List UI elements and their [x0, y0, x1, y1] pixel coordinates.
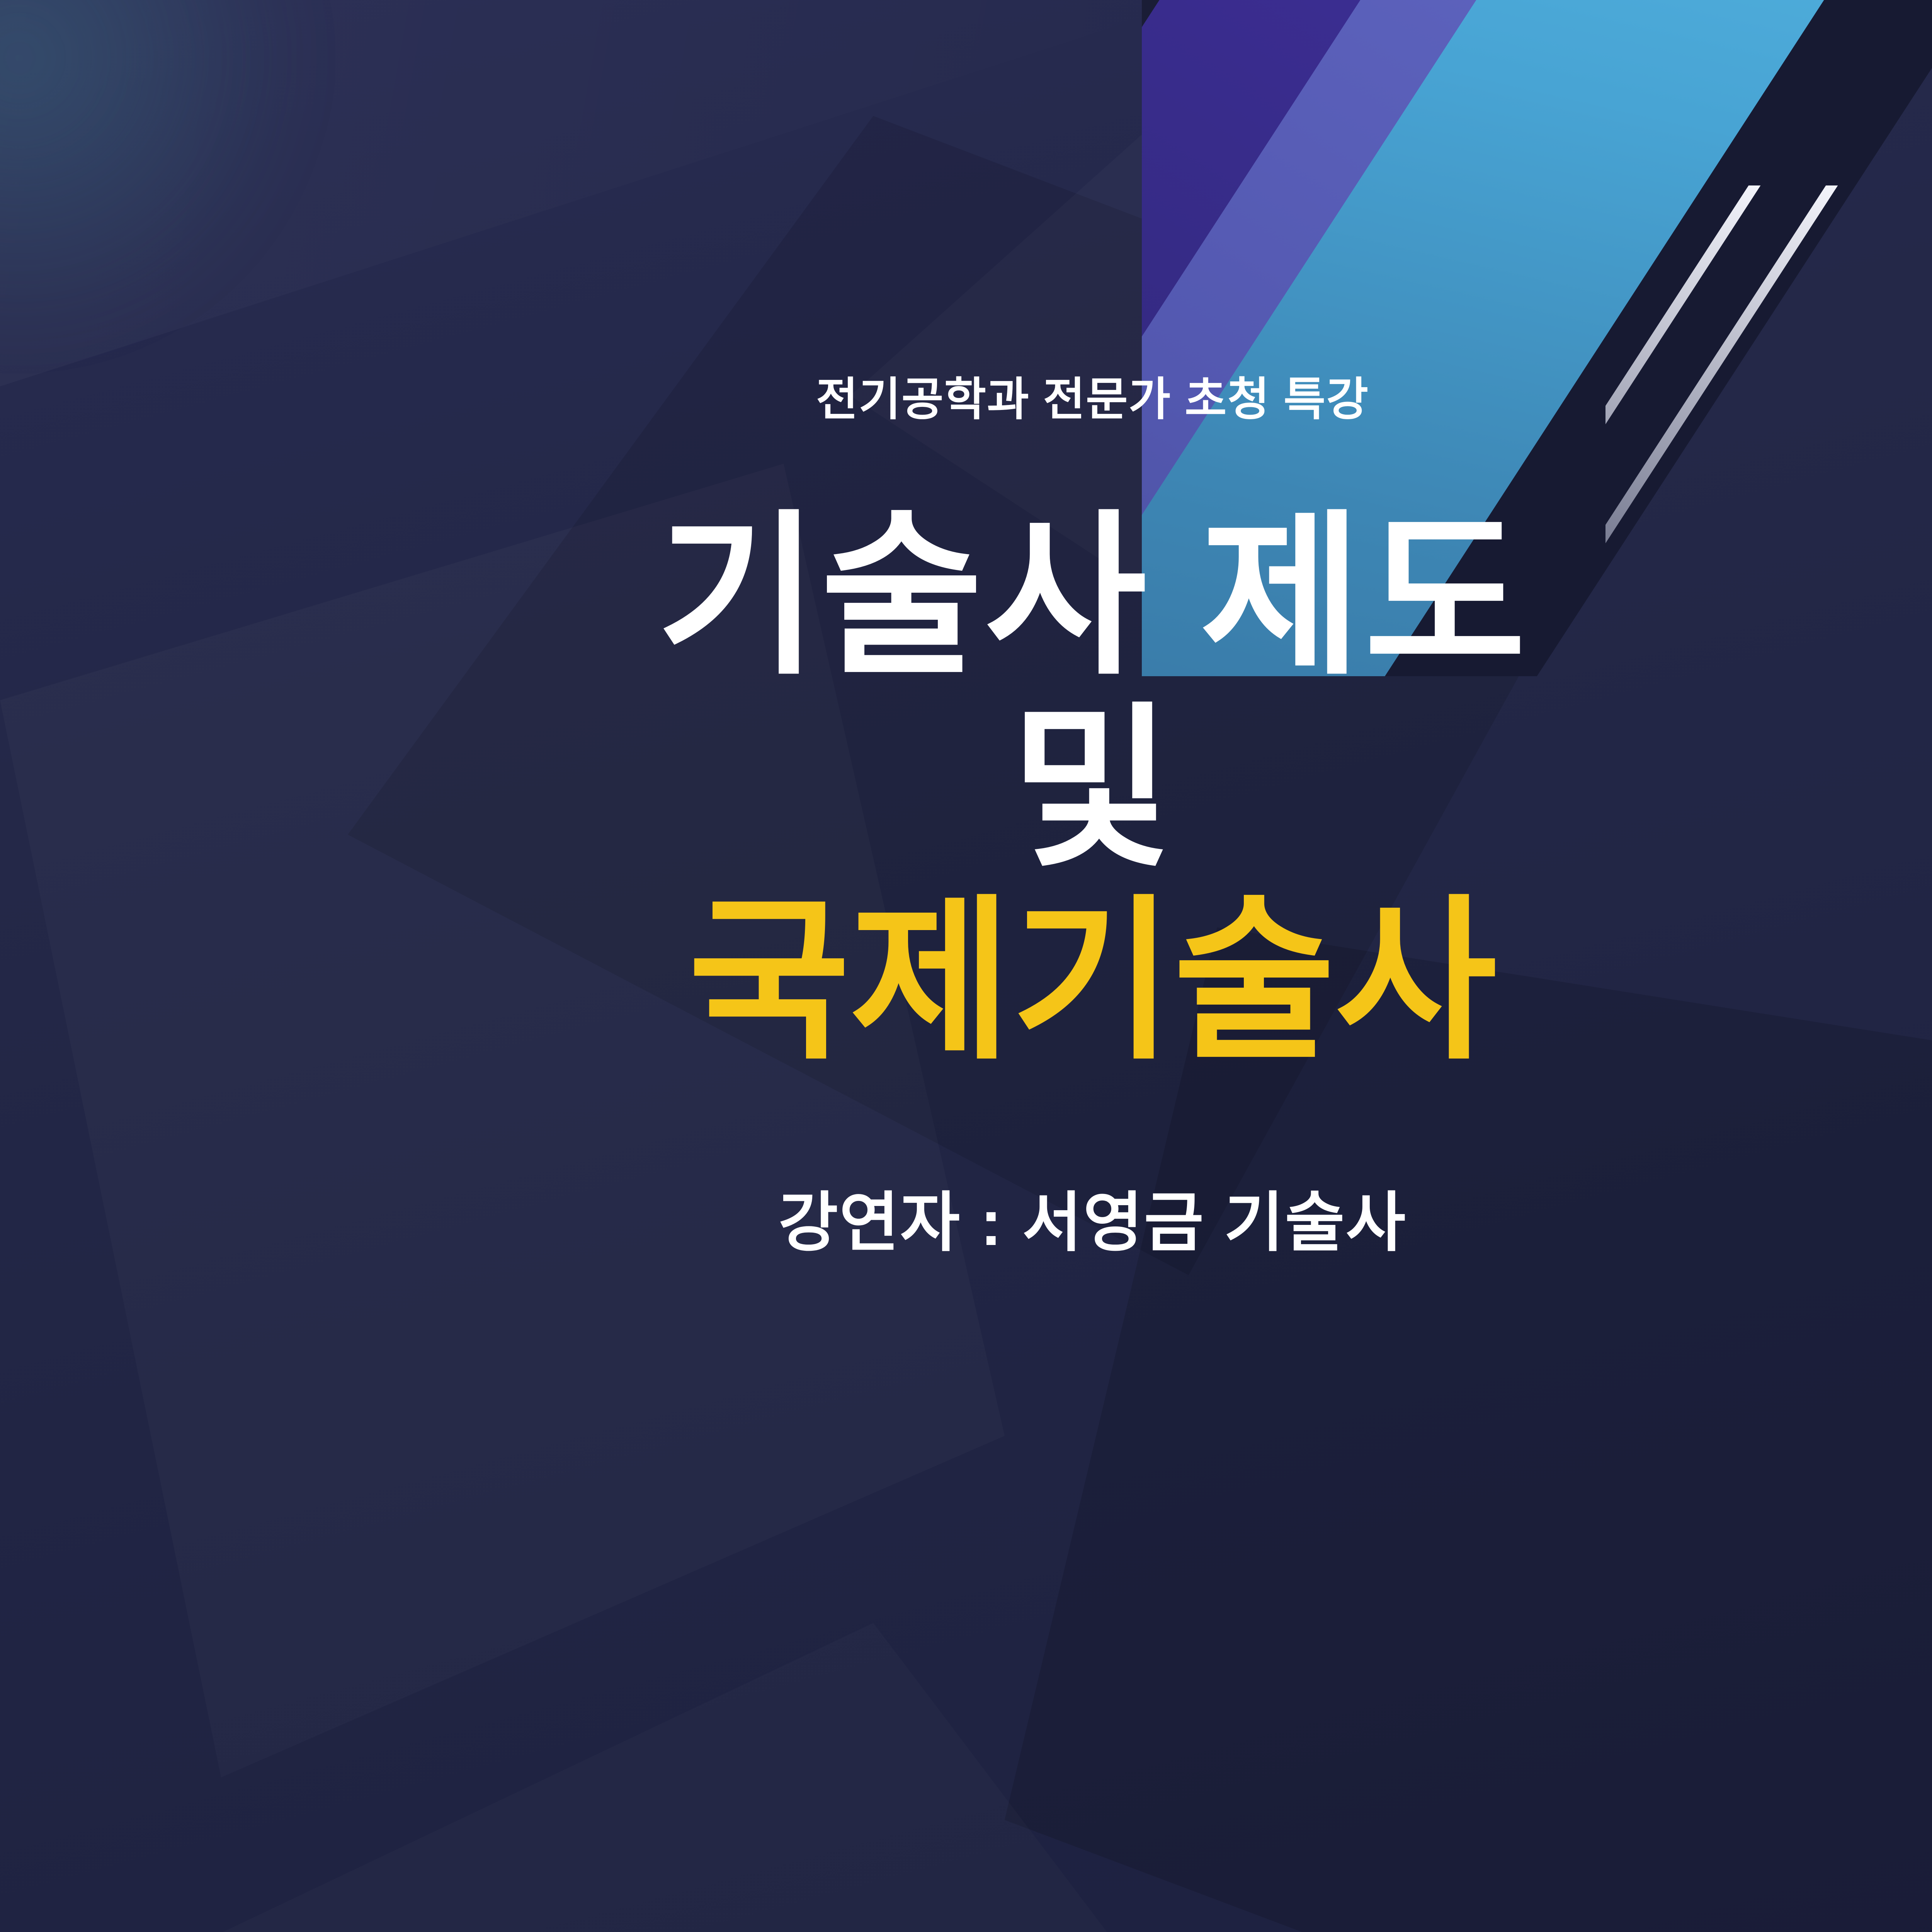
poster-title-block: 기술사 제도 및 국제기술사	[0, 505, 1932, 1073]
poster-title-line-1: 기술사 제도	[0, 505, 1932, 688]
poster-content: 전기공학과 전문가 초청 특강 기술사 제도 및 국제기술사 강연자 : 서영금…	[0, 0, 1932, 1932]
poster-speaker: 강연자 : 서영금 기술사	[778, 1170, 1406, 1264]
poster-title-line-2: 및	[0, 698, 1932, 881]
poster-kicker: 전기공학과 전문가 초청 특강	[816, 377, 1369, 422]
poster-title-accent: 국제기술사	[0, 890, 1932, 1073]
event-poster: 전기공학과 전문가 초청 특강 기술사 제도 및 국제기술사 강연자 : 서영금…	[0, 0, 1932, 1932]
